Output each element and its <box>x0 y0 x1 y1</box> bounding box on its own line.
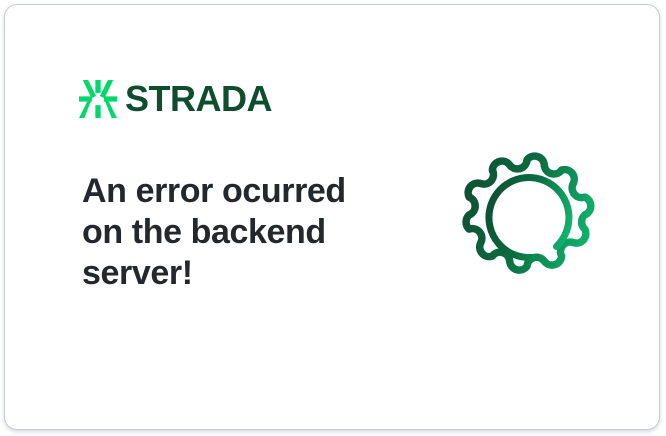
brand-wordmark: STRADA <box>125 81 272 117</box>
gear-spinner-icon <box>452 147 602 297</box>
error-screen: STRADA An error ocurred on the backend s… <box>0 0 666 436</box>
brand-logo: STRADA <box>79 77 272 121</box>
error-card: STRADA An error ocurred on the backend s… <box>4 4 660 430</box>
error-message: An error ocurred on the backend server! <box>82 171 372 294</box>
asterisk-star-icon <box>79 80 117 118</box>
